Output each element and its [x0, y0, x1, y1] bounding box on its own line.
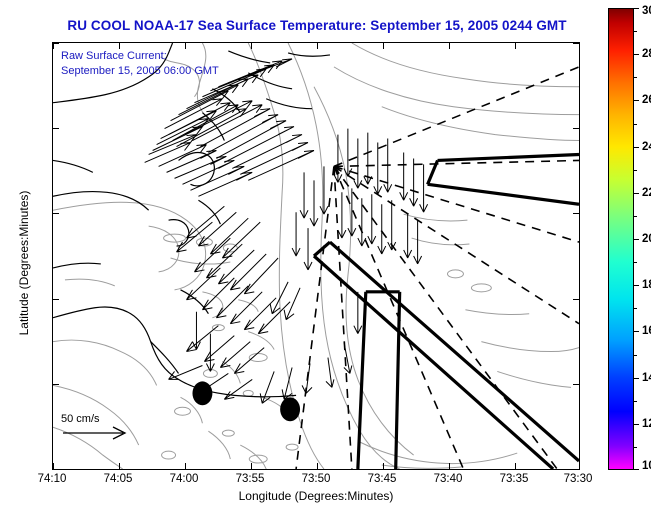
colorbar-tick-label: 14 — [642, 372, 651, 384]
arrow-right-icon — [61, 426, 131, 440]
colorbar-tick-label: 10 — [642, 460, 651, 472]
radar-station-markers — [192, 381, 300, 421]
annotation-line-2: September 15, 2005 06:00 GMT — [61, 64, 219, 79]
x-tick-label: 73:40 — [434, 473, 463, 485]
scale-reference-label: 50 cm/s — [61, 413, 131, 425]
colorbar-tick-label: 26 — [642, 94, 651, 106]
x-tick-label: 73:35 — [500, 473, 529, 485]
colorbar-tick-label: 24 — [642, 141, 651, 153]
colorbar-tick-label: 30 — [642, 5, 651, 17]
map-plot-area[interactable]: Raw Surface Current: September 15, 2005 … — [52, 42, 580, 470]
y-axis-title: Latitude (Degrees:Minutes) — [17, 153, 31, 373]
temperature-colorbar[interactable]: 30 28 26 24 22 20 18 16 14 12 10 — [608, 8, 634, 470]
x-tick-label: 73:55 — [236, 473, 265, 485]
figure-title: RU COOL NOAA-17 Sea Surface Temperature:… — [52, 18, 582, 33]
map-graphics — [53, 43, 579, 469]
surface-current-vectors — [145, 59, 428, 403]
x-tick-label: 74:00 — [170, 473, 199, 485]
radar-station-marker — [280, 397, 300, 421]
colorbar-gradient — [608, 8, 634, 470]
x-tick-label: 73:30 — [564, 473, 593, 485]
current-annotation: Raw Surface Current: September 15, 2005 … — [61, 49, 219, 79]
x-axis-title: Longitude (Degrees:Minutes) — [52, 489, 580, 503]
x-tick-label: 73:45 — [368, 473, 397, 485]
radial-dashed-lines — [296, 67, 579, 469]
x-tick-label: 73:50 — [302, 473, 331, 485]
x-tick-label: 74:05 — [104, 473, 133, 485]
colorbar-tick-label: 28 — [642, 48, 651, 60]
sst-map-figure: RU COOL NOAA-17 Sea Surface Temperature:… — [0, 0, 651, 518]
annotation-line-1: Raw Surface Current: — [61, 49, 219, 64]
radar-station-marker — [192, 381, 212, 405]
colorbar-tick-label: 12 — [642, 418, 651, 430]
scale-reference: 50 cm/s — [61, 413, 131, 445]
